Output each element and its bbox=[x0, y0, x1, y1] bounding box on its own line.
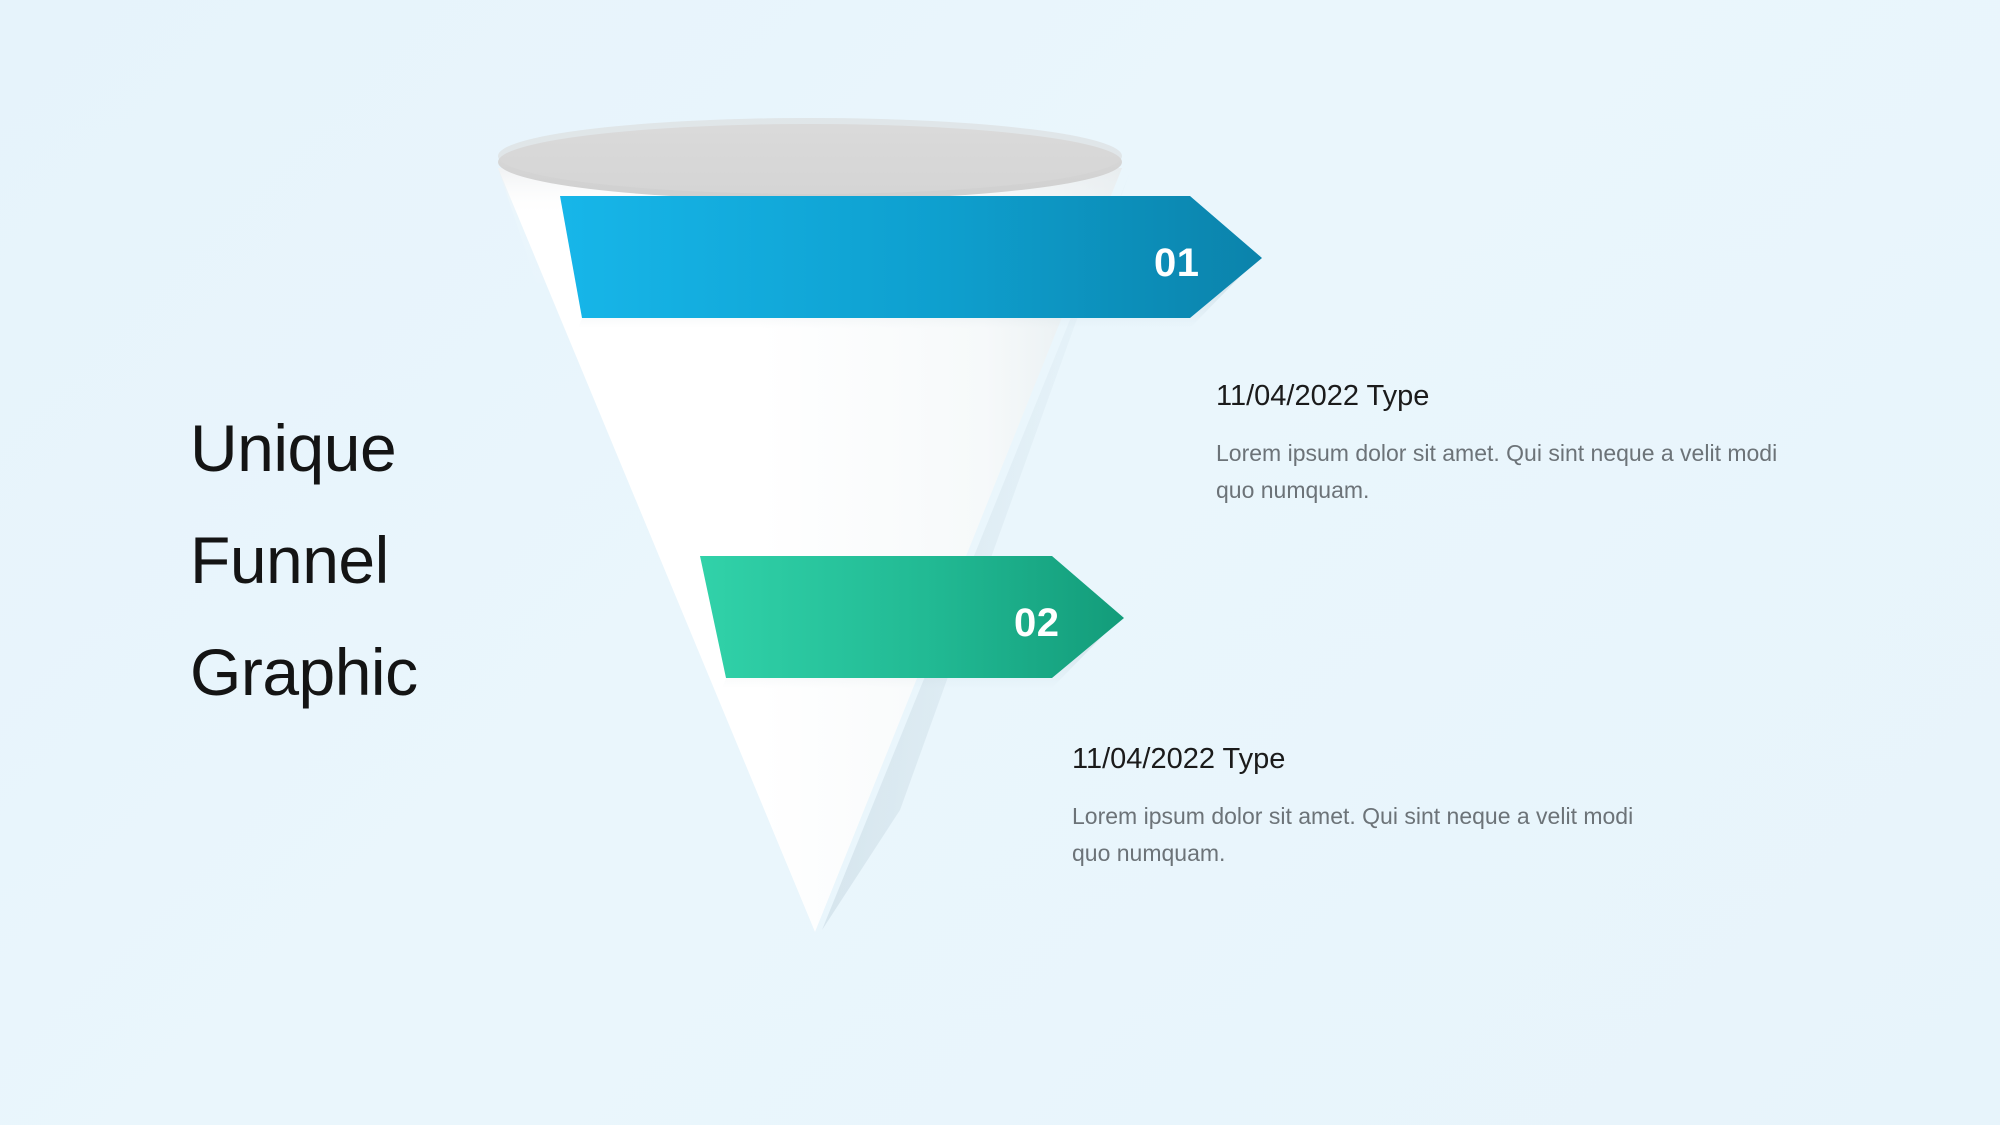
funnel-step-02-bar[interactable]: 02 bbox=[700, 556, 1140, 696]
funnel-step-01-bar[interactable]: 01 bbox=[560, 196, 1280, 336]
funnel-step-01-info: 11/04/2022 Type Lorem ipsum dolor sit am… bbox=[1216, 380, 1796, 509]
funnel-rim-highlight bbox=[498, 118, 1122, 194]
funnel-step-01-number: 01 bbox=[1154, 241, 1200, 286]
funnel-step-01-body: Lorem ipsum dolor sit amet. Qui sint neq… bbox=[1216, 435, 1796, 509]
funnel-step-02-number: 02 bbox=[1014, 601, 1060, 646]
funnel-step-02-body: Lorem ipsum dolor sit amet. Qui sint neq… bbox=[1072, 798, 1652, 872]
slide-canvas: Unique Funnel Graphic bbox=[0, 0, 2000, 1125]
bar-02-shape bbox=[700, 556, 1124, 678]
funnel-step-02-date: 11/04/2022 Type bbox=[1072, 743, 1652, 776]
funnel-step-02-info: 11/04/2022 Type Lorem ipsum dolor sit am… bbox=[1072, 743, 1652, 872]
funnel-step-01-date: 11/04/2022 Type bbox=[1216, 380, 1796, 413]
